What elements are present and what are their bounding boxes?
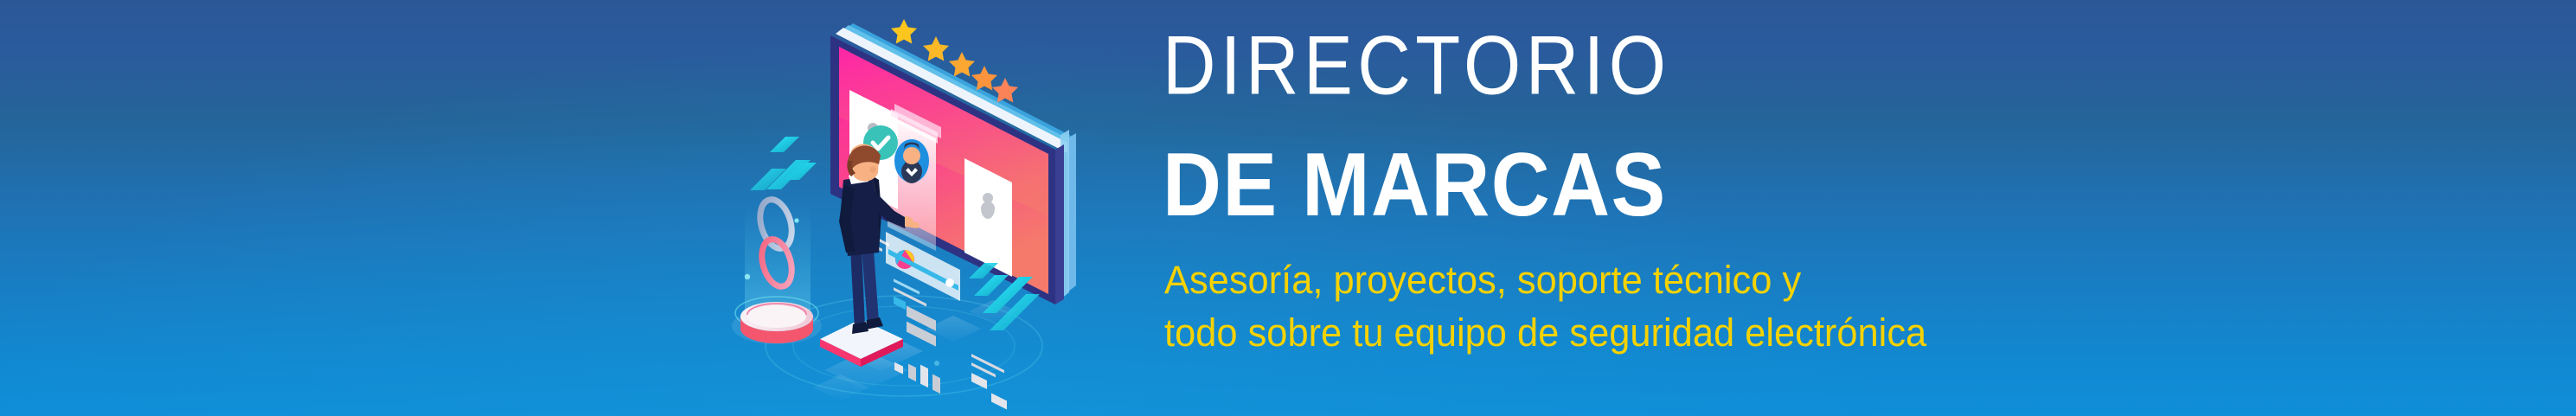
banner-subtitle: Asesoría, proyectos, soporte técnico y t…	[1164, 253, 1926, 359]
directorio-de-marcas-banner: DIRECTORIO DE MARCAS Asesoría, proyectos…	[0, 0, 2576, 416]
star-3	[949, 52, 975, 77]
star-1	[891, 19, 917, 44]
page-title-line-1: DIRECTORIO	[1163, 24, 1670, 107]
hero-illustration	[709, 0, 1142, 416]
light-beam	[745, 204, 811, 315]
banner-text-block: DIRECTORIO DE MARCAS Asesoría, proyectos…	[1163, 0, 2374, 416]
banner-subtitle-line-1: Asesoría, proyectos, soporte técnico y	[1164, 253, 1926, 306]
page-title-line-2: DE MARCAS	[1163, 139, 1667, 229]
star-2	[923, 36, 949, 61]
banner-subtitle-line-2: todo sobre tu equipo de seguridad electr…	[1164, 306, 1926, 359]
cyan-stripes-left	[750, 137, 817, 190]
